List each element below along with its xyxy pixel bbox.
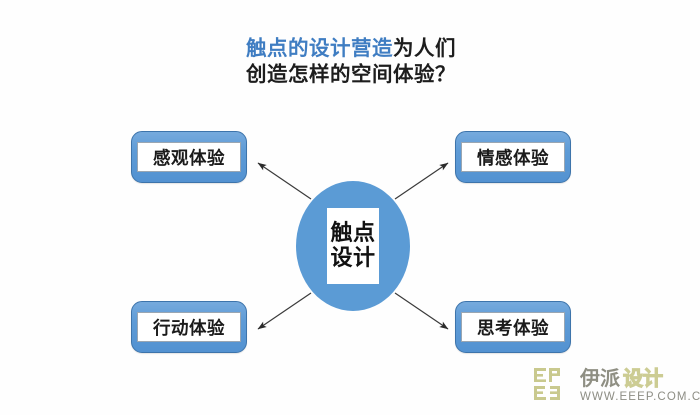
title-accent-text: 触点的设计营造 [246, 37, 393, 60]
watermark-text: 伊派 设计 WWW.EEEP.COM.CN [580, 366, 700, 403]
node-sensory[interactable]: 感观体验 [131, 131, 247, 183]
watermark-brand-dark: 伊派 [580, 367, 621, 390]
eeep-logo-icon [533, 367, 573, 401]
node-sensory-label: 感观体验 [137, 142, 241, 172]
title-plain-text: 为人们 [393, 37, 456, 60]
node-thinking-label: 思考体验 [461, 312, 565, 342]
title-line-1: 触点的设计营造为人们 [246, 36, 546, 62]
node-thinking[interactable]: 思考体验 [455, 301, 571, 353]
connector-hub-to-thinking [395, 293, 448, 329]
hub-label-line-1: 触点 [330, 221, 375, 246]
hub-label-line-2: 设计 [330, 246, 375, 271]
node-emotion-label: 情感体验 [461, 142, 565, 172]
slide-canvas: 触点的设计营造为人们 创造怎样的空间体验？ 感观体验 情感体验 行动体验 思考体… [0, 0, 700, 415]
node-action[interactable]: 行动体验 [131, 301, 247, 353]
hub-label-plate: 触点 设计 [327, 208, 379, 284]
node-action-label: 行动体验 [137, 312, 241, 342]
connector-hub-to-emotion [395, 163, 448, 199]
title-line-2: 创造怎样的空间体验？ [246, 62, 546, 88]
connector-hub-to-sensory [258, 163, 311, 199]
watermark-url: WWW.EEEP.COM.CN [580, 391, 700, 403]
connector-hub-to-action [258, 293, 311, 329]
watermark-brand: 伊派 设计 [580, 366, 700, 390]
watermark: 伊派 设计 WWW.EEEP.COM.CN [533, 366, 695, 410]
watermark-brand-light: 设计 [623, 367, 663, 390]
node-emotion[interactable]: 情感体验 [455, 131, 571, 183]
hub-ellipse[interactable]: 触点 设计 [296, 181, 410, 311]
page-title: 触点的设计营造为人们 创造怎样的空间体验？ [246, 36, 546, 88]
